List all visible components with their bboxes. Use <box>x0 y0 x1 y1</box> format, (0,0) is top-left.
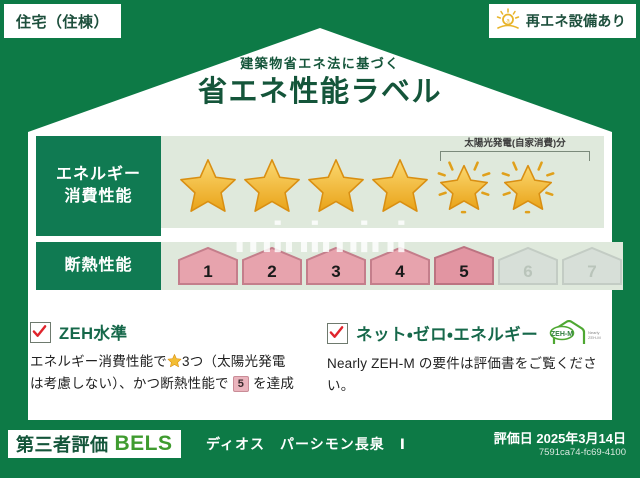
nzeb-description: Nearly ZEH-M の要件は評価書をご覧ください。 <box>327 353 610 397</box>
performance-table: エネルギー 消費性能 <box>36 136 604 290</box>
building-name: ディオス パーシモン長泉 Ⅰ <box>206 434 406 454</box>
renewable-equipment-badge: a 再エネ設備あり <box>489 4 636 38</box>
inline-star-icon <box>167 353 182 368</box>
check-icon <box>32 324 47 339</box>
footer-bar: 第三者評価 BELS ディオス パーシモン長泉 Ⅰ 評価日 2025年3月14日… <box>0 420 640 478</box>
housing-type-label: 住宅（住棟） <box>16 11 109 32</box>
star-icon <box>369 154 431 216</box>
energy-performance-row: エネルギー 消費性能 <box>36 136 604 236</box>
insulation-block: 2 <box>241 246 303 286</box>
zeh-m-logo-icon: ZEH-M Nearly ZEH-M <box>548 320 604 346</box>
zeh-section: ZEH水準 エネルギー消費性能で3つ（太陽光発電 は考慮しない）、かつ断熱性能で… <box>30 320 313 397</box>
solar-bracket <box>440 151 590 161</box>
insulation-block: 5 <box>433 246 495 286</box>
zeh-description: エネルギー消費性能で3つ（太陽光発電 は考慮しない）、かつ断熱性能で 5 を達成 <box>30 351 313 395</box>
nzeb-section: ネット・ゼロ・エネルギー ZEH-M Nearly ZEH-M Nearly Z… <box>327 320 610 397</box>
insulation-block: 4 <box>369 246 431 286</box>
energy-performance-key: エネルギー 消費性能 <box>36 136 161 236</box>
housing-type-badge: 住宅（住棟） <box>4 4 121 38</box>
insulation-block: 1 <box>177 246 239 286</box>
bels-ja-label: 第三者評価 <box>16 431 109 457</box>
insulation-block-value: 1 <box>203 262 212 282</box>
nzeb-title: ネット・ゼロ・エネルギー <box>356 321 538 345</box>
insulation-block-value: 4 <box>395 262 404 282</box>
insulation-block-value: 2 <box>267 262 276 282</box>
star-icon <box>305 154 367 216</box>
nzeb-checkbox[interactable] <box>327 323 348 344</box>
solar-annotation-label: 太陽光発電(自家消費)分 <box>440 139 590 149</box>
insulation-performance-row: 断熱性能 1 2 <box>36 242 604 290</box>
insulation-block-value: 5 <box>459 262 468 282</box>
insulation-label: 断熱性能 <box>64 255 132 277</box>
star-icon <box>177 154 239 216</box>
evaluation-date: 評価日 2025年3月14日 <box>494 428 626 447</box>
bels-en-label: BELS <box>115 432 173 456</box>
zeh-text-4: を達成 <box>253 376 294 391</box>
insulation-scale: 1 2 3 <box>161 246 623 286</box>
energy-label-line2: 消費性能 <box>64 186 132 208</box>
title-subtitle: 建築物省エネ法に基づく <box>0 56 640 72</box>
insulation-block-value: 3 <box>331 262 340 282</box>
zeh-header: ZEH水準 <box>30 320 313 344</box>
check-icon <box>329 325 344 340</box>
solar-star-icon <box>497 154 559 216</box>
evaluation-id: 7591ca74-fc69-4100 <box>539 447 626 458</box>
insulation-block: 3 <box>305 246 367 286</box>
sun-icon: a <box>495 8 521 34</box>
star-rating <box>161 154 559 216</box>
title-main: 省エネ性能ラベル <box>0 74 640 110</box>
zeh-grade-badge: 5 <box>233 376 249 392</box>
energy-performance-value: 太陽光発電(自家消費)分 <box>161 136 604 228</box>
zeh-m-logo-text: ZEH-M <box>551 331 573 338</box>
zeh-title: ZEH水準 <box>59 320 128 344</box>
insulation-block-value: 7 <box>587 262 596 282</box>
solar-annotation: 太陽光発電(自家消費)分 <box>440 139 590 161</box>
nzeb-header: ネット・ゼロ・エネルギー ZEH-M Nearly ZEH-M <box>327 320 610 346</box>
energy-label-line1: エネルギー <box>56 164 141 186</box>
insulation-performance-value: 1 2 3 <box>161 242 623 290</box>
bels-badge: 第三者評価 BELS <box>8 430 181 458</box>
criteria-sections: ZEH水準 エネルギー消費性能で3つ（太陽光発電 は考慮しない）、かつ断熱性能で… <box>30 320 610 397</box>
svg-text:ZEH-M: ZEH-M <box>588 335 601 340</box>
solar-star-icon <box>433 154 495 216</box>
label-title: 建築物省エネ法に基づく 省エネ性能ラベル <box>0 56 640 110</box>
energy-performance-label: 住宅（住棟） a 再エネ設備あり 建築物省エネ法に基づく 省エネ性能ラベル エネ… <box>0 0 640 478</box>
zeh-text-2: 3つ（太陽光発電 <box>182 354 286 369</box>
zeh-checkbox[interactable] <box>30 322 51 343</box>
star-icon <box>241 154 303 216</box>
zeh-text-1: エネルギー消費性能で <box>30 354 167 369</box>
insulation-block: 6 <box>497 246 559 286</box>
insulation-block: 7 <box>561 246 623 286</box>
insulation-block-value: 6 <box>523 262 532 282</box>
renewable-equipment-label: 再エネ設備あり <box>526 11 626 31</box>
insulation-performance-key: 断熱性能 <box>36 242 161 290</box>
zeh-text-3: は考慮しない）、かつ断熱性能で <box>30 376 229 391</box>
